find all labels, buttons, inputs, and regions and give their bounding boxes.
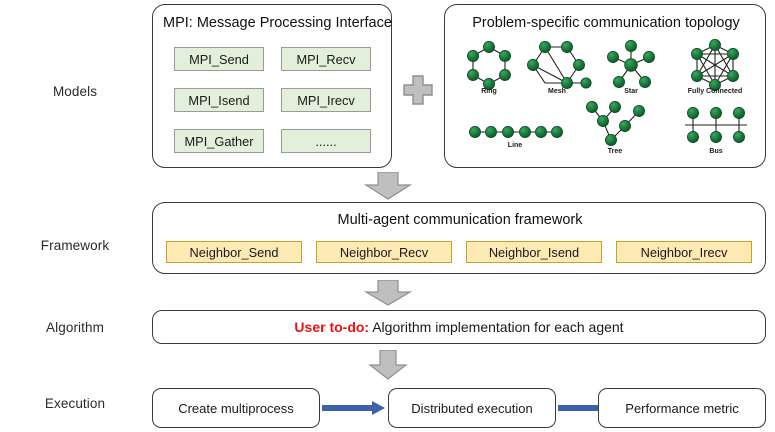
topology-graphics: Ring Mesh Star Fully Connected Line Tree… [453,35,759,163]
mpi-chip-more[interactable]: ...... [281,129,371,153]
mpi-chip-gather[interactable]: MPI_Gather [174,129,264,153]
algorithm-text: User to-do: Algorithm implementation for… [153,319,765,335]
topology-label-mesh: Mesh [548,88,566,95]
framework-chip-neighbor-irecv[interactable]: Neighbor_Irecv [616,241,752,263]
arrow-down-models-to-framework [364,172,412,200]
algorithm-body: Algorithm implementation for each agent [369,319,623,335]
arrow-right-create-to-distributed [322,401,386,415]
mpi-panel-title: MPI: Message Processing Interface [163,15,392,31]
plus-icon [402,74,434,106]
mpi-chip-send[interactable]: MPI_Send [174,47,264,71]
framework-panel-title: Multi-agent communication framework [153,212,767,228]
row-label-algorithm: Algorithm [0,320,150,335]
arrow-down-algorithm-to-execution [364,350,412,380]
topology-label-ring: Ring [481,88,497,95]
mpi-chip-isend[interactable]: MPI_Isend [174,88,264,112]
mpi-chip-irecv[interactable]: MPI_Irecv [281,88,371,112]
execution-box-performance-metric[interactable]: Performance metric [598,388,766,428]
row-label-framework: Framework [0,238,150,253]
execution-box-distributed-execution[interactable]: Distributed execution [388,388,556,428]
algorithm-emphasis: User to-do: [294,319,369,335]
framework-panel: Multi-agent communication framework Neig… [152,202,766,274]
mpi-panel: MPI: Message Processing Interface MPI_Se… [152,4,392,168]
topology-label-line: Line [508,142,522,149]
topology-label-tree: Tree [608,148,622,155]
framework-chip-neighbor-send[interactable]: Neighbor_Send [166,241,302,263]
topology-panel: Problem-specific communication topology [444,4,766,168]
framework-chip-neighbor-isend[interactable]: Neighbor_Isend [466,241,602,263]
mpi-chip-recv[interactable]: MPI_Recv [281,47,371,71]
framework-chip-neighbor-recv[interactable]: Neighbor_Recv [316,241,452,263]
execution-box-create-multiprocess[interactable]: Create multiprocess [152,388,320,428]
algorithm-panel: User to-do: Algorithm implementation for… [152,310,766,344]
topology-label-bus: Bus [709,148,722,155]
row-label-execution: Execution [0,396,150,411]
topology-panel-title: Problem-specific communication topology [445,15,767,31]
topology-label-star: Star [624,88,638,95]
arrow-down-framework-to-algorithm [364,280,412,306]
topology-label-fully-connected: Fully Connected [688,88,742,95]
diagram-canvas: Models Framework Algorithm Execution MPI… [0,0,775,432]
row-label-models: Models [0,84,150,99]
